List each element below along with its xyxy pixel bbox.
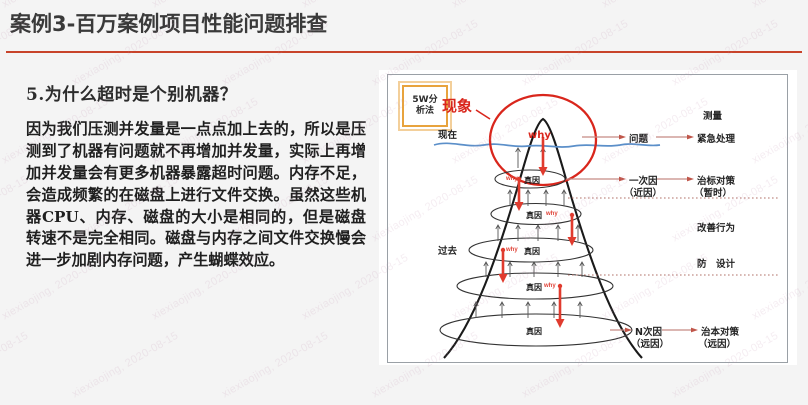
band-label-2: 防 设计 [697,256,735,270]
left-text-column: 5.为什么超时是个别机器？ 因为我们压测并发量是一点点加上去的，所以是压测到了机… [26,80,366,272]
time-label-past: 过去 [438,243,457,257]
cause-sub-row2: （近因） [624,185,662,199]
phenomenon-pointer [476,110,490,119]
cause-sub-row3: （远因） [631,336,669,350]
cause-label-4: 真因 [526,282,542,293]
answer-body-text: 因为我们压测并发量是一点点加上去的，所以是压测到了机器有问题就不再增加并发量，实… [26,119,366,272]
water-line [434,143,660,147]
cause-label-5: 真因 [526,326,542,337]
watermark-text: xiexiaojing, 2020-08-15 [70,330,180,401]
question-subheading: 5.为什么超时是个别机器？ [26,80,366,105]
right-header-measure: 测量 [703,108,722,122]
phenomenon-label: 现象 [442,95,472,116]
cause-label-2: 真因 [526,210,542,221]
time-label-now: 现在 [438,127,457,141]
cause-text-row1: 问题 [629,131,648,145]
page-title: 案例3-百万案例项目性能问题排查 [10,8,327,38]
band-separator-group [568,198,780,275]
action-sub-row3: （远因） [698,336,736,350]
cause-label-3: 真因 [524,246,540,257]
slide-canvas: 案例3-百万案例项目性能问题排查 5.为什么超时是个别机器？ 因为我们压测并发量… [0,0,808,405]
why-label-4: why [544,283,556,289]
watermark-text: xiexiaojing, 2020-08-15 [0,330,30,401]
band-label-1: 改善行为 [697,220,735,234]
method-box-line2: 析法 [416,106,434,117]
watermark-text: xiexiaojing, 2020-08-15 [220,330,330,401]
action-text-row1: 紧急处理 [697,131,735,145]
cause-label-1: 真因 [524,175,540,186]
diagram-frame: 5W分 析法 现象 why 现在 过去 真因 why 真因 why 真因 why… [387,74,788,363]
action-sub-row2: （暂时） [694,185,732,199]
diagram-panel: 5W分 析法 现象 why 现在 过去 真因 why 真因 why 真因 why… [379,70,797,365]
why-label-1: why [506,176,518,182]
slide-title-bar: 案例3-百万案例项目性能问题排查 [0,0,808,53]
why-label-2: why [546,211,558,217]
connector-group [566,135,698,333]
why-label-top: why [528,130,551,141]
method-box-line1: 5W分 [412,95,437,106]
title-divider [6,51,802,53]
why-label-3: why [506,247,518,253]
